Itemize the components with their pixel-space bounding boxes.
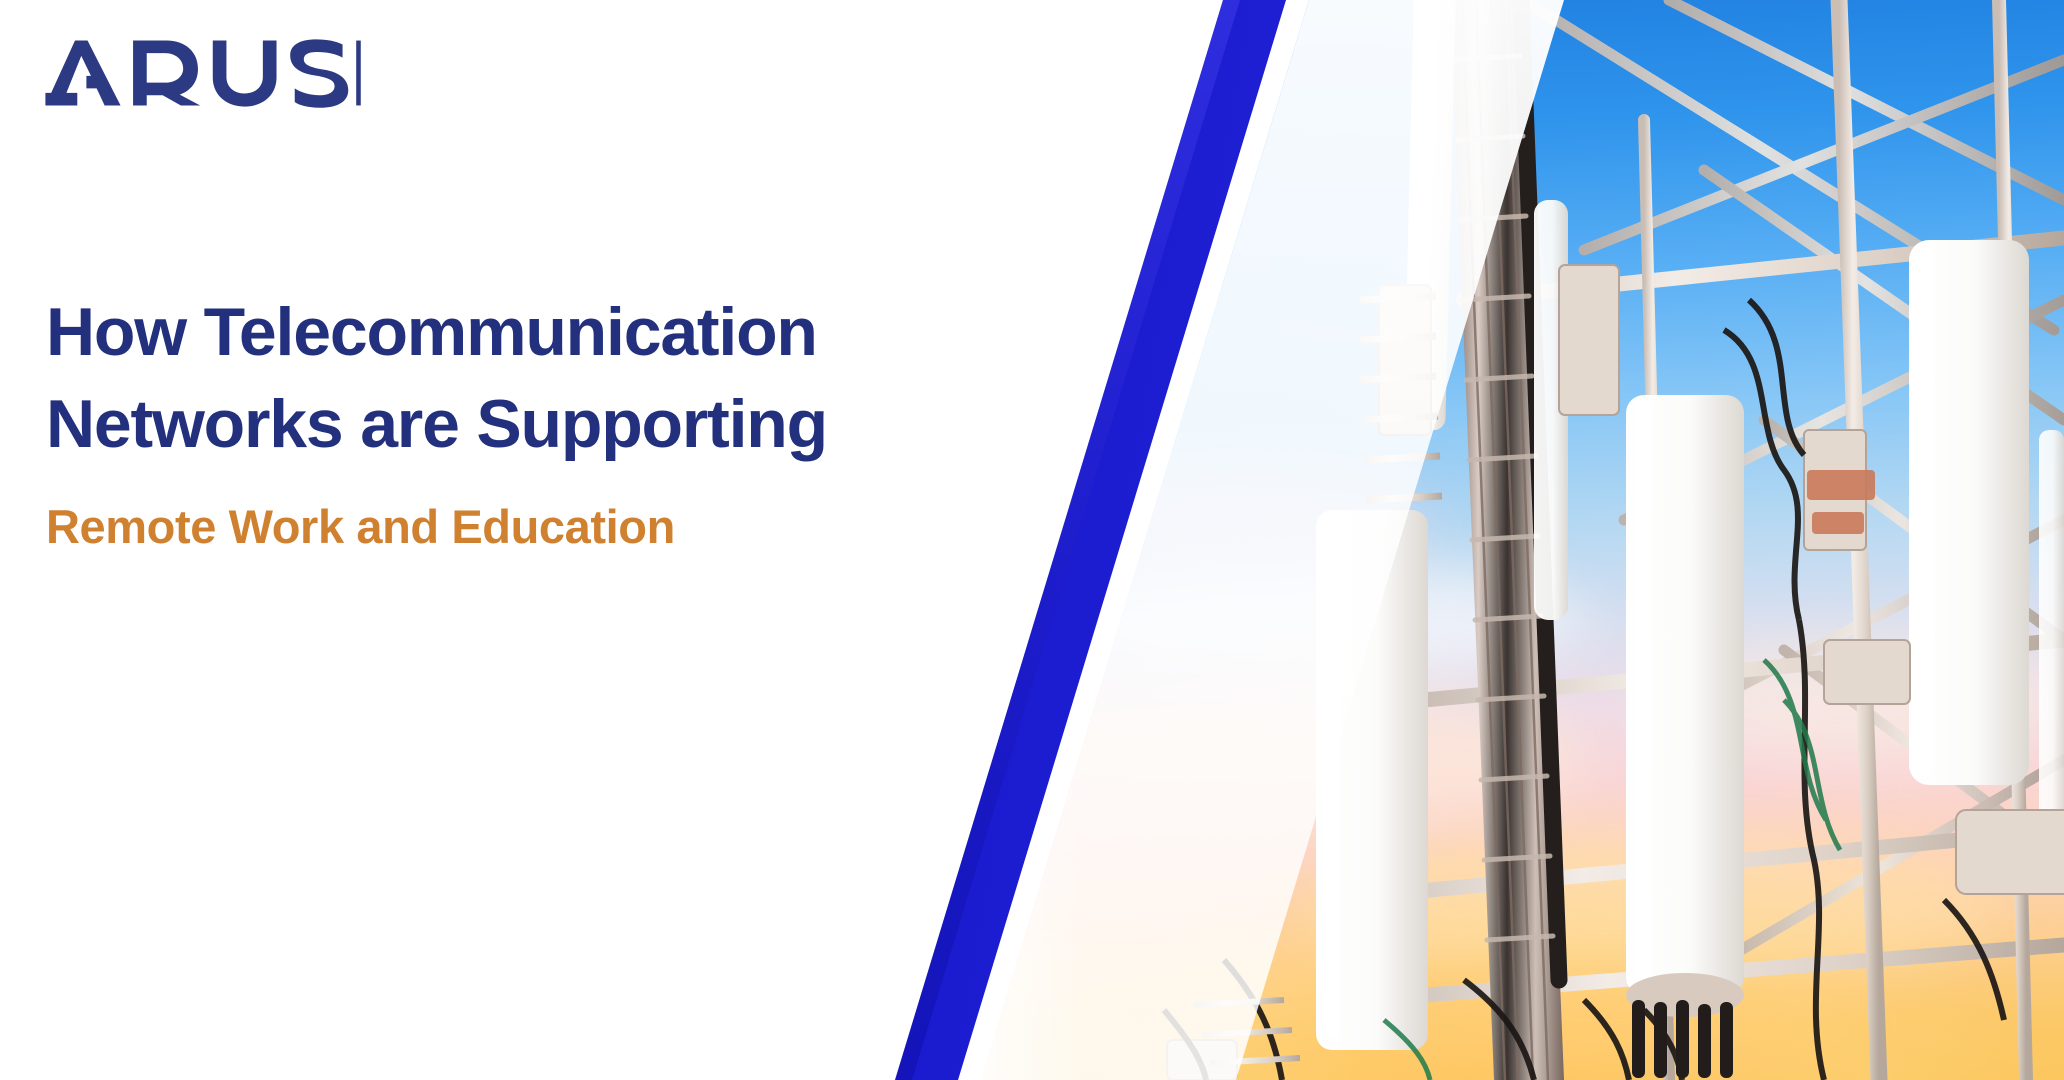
page-title: How Telecommunication Networks are Suppo…	[46, 286, 1046, 470]
banner-root: ARUSI How Telecommunication Networks are…	[0, 0, 2064, 1080]
page-subtitle: Remote Work and Education	[46, 496, 1046, 558]
arusi-logo-icon	[42, 36, 361, 110]
headline-line-2: Networks are Supporting	[46, 378, 1046, 470]
arusi-wordmark-logo[interactable]: ARUSI	[42, 36, 361, 110]
headline-line-1: How Telecommunication	[46, 286, 1046, 378]
content-panel: ARUSI How Telecommunication Networks are…	[0, 0, 1100, 1080]
headline-block: How Telecommunication Networks are Suppo…	[46, 286, 1046, 558]
